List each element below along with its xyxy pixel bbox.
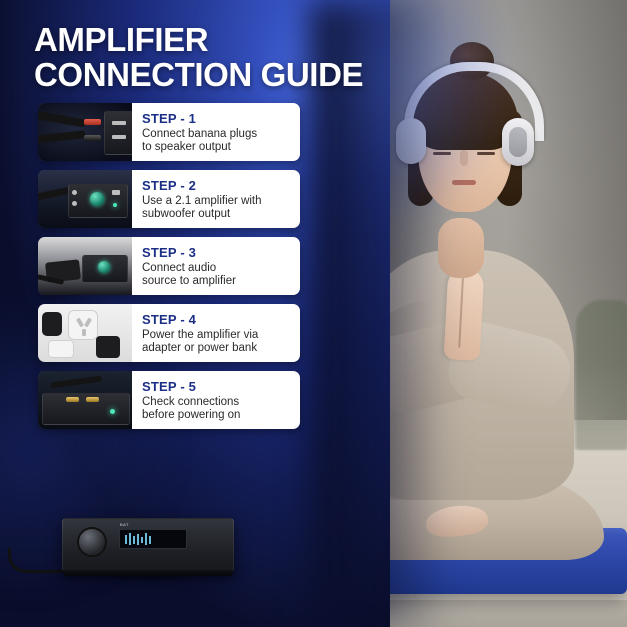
step-5-description: Check connections before powering on [142,396,292,422]
steps-list: STEP - 1 Connect banana plugs to speaker… [38,103,300,438]
status-led [110,409,115,414]
step-2-label: STEP - 2 [142,178,292,193]
power-led [113,203,117,207]
amplifier-terminal [104,111,132,155]
step-3-text: STEP - 3 Connect audio source to amplifi… [132,240,300,293]
amplifier-base [63,570,233,576]
step-2-text: STEP - 2 Use a 2.1 amplifier with subwoo… [132,173,300,226]
amplifier-product: BAT [62,518,234,572]
step-4-description: Power the amplifier via adapter or power… [142,329,292,355]
socket-pin-3 [82,329,86,336]
step-2-thumbnail [38,170,132,228]
step-card-4[interactable]: STEP - 4 Power the amplifier via adapter… [38,304,300,362]
step-3-thumbnail [38,237,132,295]
terminal-slot-1 [112,121,126,125]
step-card-5[interactable]: STEP - 5 Check connections before poweri… [38,371,300,429]
step-1-thumbnail [38,103,132,161]
banana-plug-black [84,135,101,141]
step-4-thumbnail [38,304,132,362]
step-card-3[interactable]: STEP - 3 Connect audio source to amplifi… [38,237,300,295]
step-1-description: Connect banana plugs to speaker output [142,128,292,154]
rca-jack-1 [72,190,77,195]
step-5-text: STEP - 5 Check connections before poweri… [132,374,300,427]
amplifier-brand-label: BAT [120,522,129,527]
amplifier-display [119,529,187,549]
step-4-label: STEP - 4 [142,312,292,327]
step-1-label: STEP - 1 [142,111,292,126]
power-bank [42,312,62,336]
subwoofer-output [112,190,120,195]
banana-plug-red [84,119,101,125]
promo-image-root: AMPLIFIER CONNECTION GUIDE STEP - 1 Conn… [0,0,627,627]
step-2-description: Use a 2.1 amplifier with subwoofer outpu… [142,195,292,221]
usb-charger [96,336,120,358]
step-card-1[interactable]: STEP - 1 Connect banana plugs to speaker… [38,103,300,161]
gold-connector-1 [66,397,79,402]
step-5-label: STEP - 5 [142,379,292,394]
amplifier-volume-dial[interactable] [77,527,107,557]
step-3-label: STEP - 3 [142,245,292,260]
step-4-text: STEP - 4 Power the amplifier via adapter… [132,307,300,360]
page-title: AMPLIFIER CONNECTION GUIDE [34,22,363,92]
amplifier-knob [90,192,104,206]
step-card-2[interactable]: STEP - 2 Use a 2.1 amplifier with subwoo… [38,170,300,228]
gold-connector-2 [86,397,99,402]
step-3-description: Connect audio source to amplifier [142,262,292,288]
step-5-thumbnail [38,371,132,429]
amplifier-volume-knob [98,261,110,273]
step-1-text: STEP - 1 Connect banana plugs to speaker… [132,106,300,159]
plant-decor [576,300,627,450]
adapter-second [48,340,74,358]
terminal-slot-2 [112,135,126,139]
rca-jack-2 [72,201,77,206]
